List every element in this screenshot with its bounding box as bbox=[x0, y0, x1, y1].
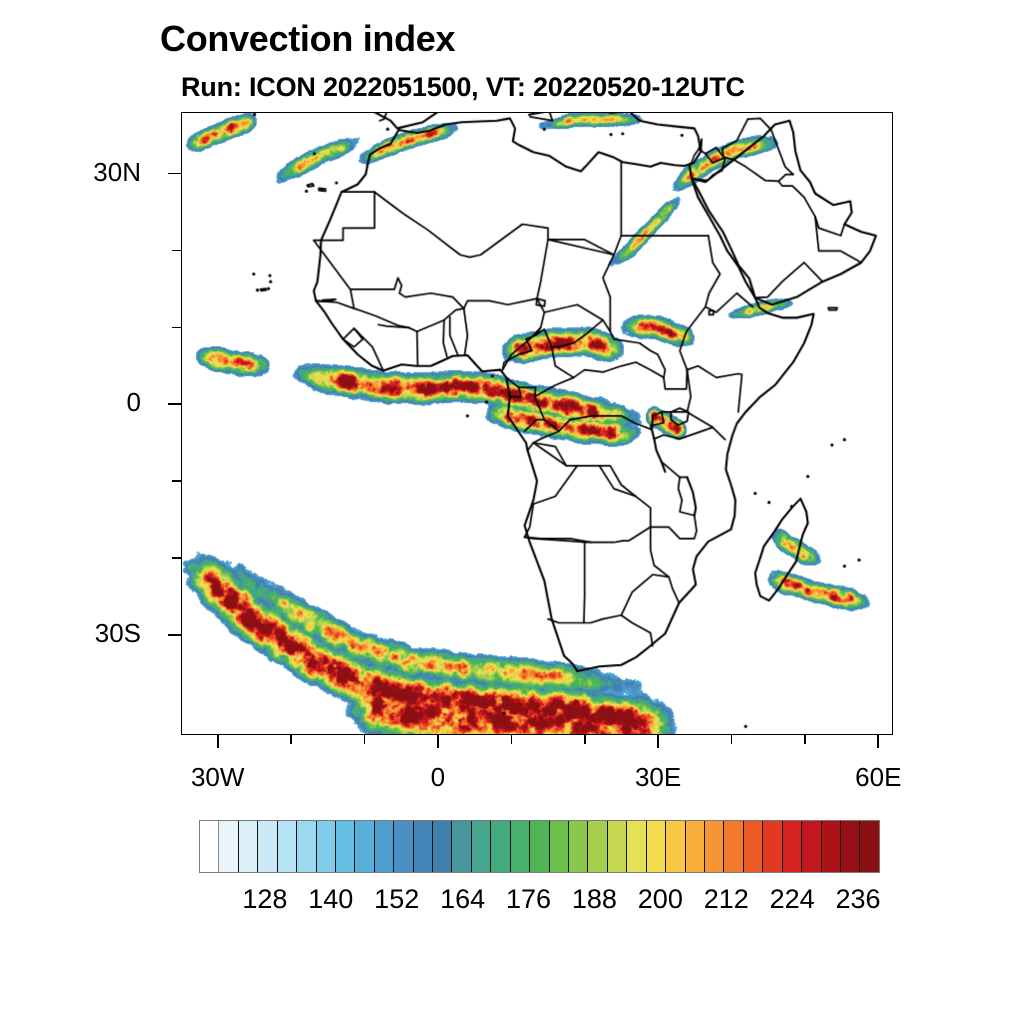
colorbar-cell bbox=[219, 821, 238, 872]
colorbar-cell bbox=[239, 821, 258, 872]
y-axis-tick-minor bbox=[172, 480, 181, 482]
x-axis-label: 30E bbox=[588, 762, 728, 793]
x-axis-label: 0 bbox=[368, 762, 508, 793]
colorbar-cell bbox=[666, 821, 685, 872]
x-axis-tick-major bbox=[657, 735, 659, 748]
colorbar-cell bbox=[627, 821, 646, 872]
x-axis-tick-minor bbox=[290, 735, 292, 744]
colorbar-cell bbox=[822, 821, 841, 872]
y-axis-tick-minor bbox=[172, 250, 181, 252]
colorbar-cell bbox=[550, 821, 569, 872]
x-axis-tick-minor bbox=[731, 735, 733, 744]
colorbar-cell bbox=[608, 821, 627, 872]
colorbar-cell bbox=[317, 821, 336, 872]
colorbar-cell bbox=[336, 821, 355, 872]
colorbar-cell bbox=[588, 821, 607, 872]
y-axis-label: 30N bbox=[51, 157, 141, 188]
map-plot-frame bbox=[181, 112, 893, 735]
colorbar-cell bbox=[491, 821, 510, 872]
run-valid-time-subtitle: Run: ICON 2022051500, VT: 20220520-12UTC bbox=[181, 72, 745, 103]
x-axis-tick-minor bbox=[584, 735, 586, 744]
colorbar-cell bbox=[258, 821, 277, 872]
page-title: Convection index bbox=[160, 18, 455, 60]
colorbar-cell bbox=[783, 821, 802, 872]
colorbar-cell bbox=[278, 821, 297, 872]
x-axis-tick-major bbox=[217, 735, 219, 748]
colorbar-cell bbox=[530, 821, 549, 872]
colorbar-cell bbox=[569, 821, 588, 872]
x-axis-tick-minor bbox=[511, 735, 513, 744]
y-axis-tick-minor bbox=[172, 327, 181, 329]
colorbar-cell bbox=[763, 821, 782, 872]
colorbar-cell bbox=[724, 821, 743, 872]
colorbar-cell bbox=[200, 821, 219, 872]
colorbar-tick-label: 236 bbox=[808, 884, 908, 915]
colorbar-cell bbox=[860, 821, 878, 872]
colorbar-cell bbox=[297, 821, 316, 872]
colorbar-cell bbox=[511, 821, 530, 872]
colorbar-cell bbox=[802, 821, 821, 872]
colorbar-cell bbox=[686, 821, 705, 872]
convection-index-heatmap bbox=[182, 113, 892, 734]
y-axis-label: 30S bbox=[51, 618, 141, 649]
x-axis-tick-minor bbox=[804, 735, 806, 744]
colorbar-cell bbox=[433, 821, 452, 872]
colorbar-cell bbox=[744, 821, 763, 872]
colorbar-cell bbox=[452, 821, 471, 872]
colorbar bbox=[199, 820, 880, 873]
colorbar-cell bbox=[647, 821, 666, 872]
colorbar-cell bbox=[472, 821, 491, 872]
colorbar-cell bbox=[414, 821, 433, 872]
y-axis-tick-major bbox=[168, 634, 181, 636]
y-axis-tick-major bbox=[168, 403, 181, 405]
colorbar-cell bbox=[355, 821, 374, 872]
y-axis-tick-major bbox=[168, 173, 181, 175]
colorbar-cell bbox=[705, 821, 724, 872]
x-axis-label: 60E bbox=[808, 762, 948, 793]
colorbar-cell bbox=[375, 821, 394, 872]
x-axis-tick-major bbox=[877, 735, 879, 748]
x-axis-label: 30W bbox=[148, 762, 288, 793]
x-axis-tick-minor bbox=[364, 735, 366, 744]
colorbar-cell bbox=[841, 821, 860, 872]
x-axis-tick-major bbox=[437, 735, 439, 748]
y-axis-label: 0 bbox=[51, 387, 141, 418]
y-axis-tick-minor bbox=[172, 557, 181, 559]
colorbar-cell bbox=[394, 821, 413, 872]
